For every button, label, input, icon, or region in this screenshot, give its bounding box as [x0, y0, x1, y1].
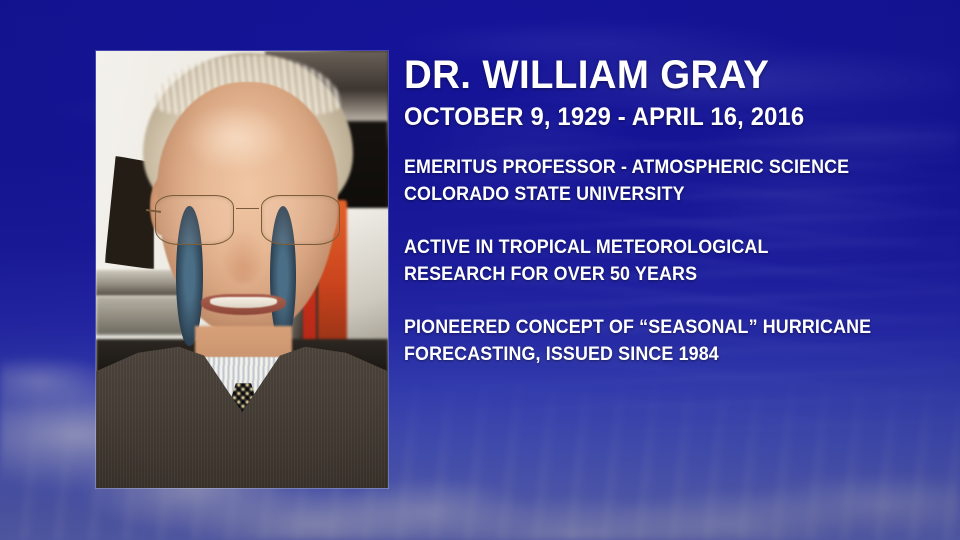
- affiliation-block: EMERITUS PROFESSOR - ATMOSPHERIC SCIENCE…: [404, 154, 883, 208]
- subject-name: DR. WILLIAM GRAY: [404, 52, 894, 98]
- career-block: ACTIVE IN TROPICAL METEOROLOGICAL RESEAR…: [404, 234, 883, 288]
- portrait-photo-content: [96, 51, 388, 488]
- memorial-graphic: DR. WILLIAM GRAY OCTOBER 9, 1929 - APRIL…: [0, 0, 960, 540]
- affiliation-line-2: COLORADO STATE UNIVERSITY: [404, 181, 883, 208]
- photo-edge-shading: [96, 51, 388, 488]
- memorial-text-block: DR. WILLIAM GRAY OCTOBER 9, 1929 - APRIL…: [404, 52, 914, 368]
- legacy-line-1: PIONEERED CONCEPT OF “SEASONAL” HURRICAN…: [404, 314, 883, 341]
- legacy-block: PIONEERED CONCEPT OF “SEASONAL” HURRICAN…: [404, 314, 883, 368]
- portrait-photo: [96, 51, 388, 488]
- career-line-1: ACTIVE IN TROPICAL METEOROLOGICAL: [404, 234, 883, 261]
- career-line-2: RESEARCH FOR OVER 50 YEARS: [404, 261, 883, 288]
- affiliation-line-1: EMERITUS PROFESSOR - ATMOSPHERIC SCIENCE: [404, 154, 883, 181]
- life-dates: OCTOBER 9, 1929 - APRIL 16, 2016: [404, 102, 889, 132]
- legacy-line-2: FORECASTING, ISSUED SINCE 1984: [404, 341, 883, 368]
